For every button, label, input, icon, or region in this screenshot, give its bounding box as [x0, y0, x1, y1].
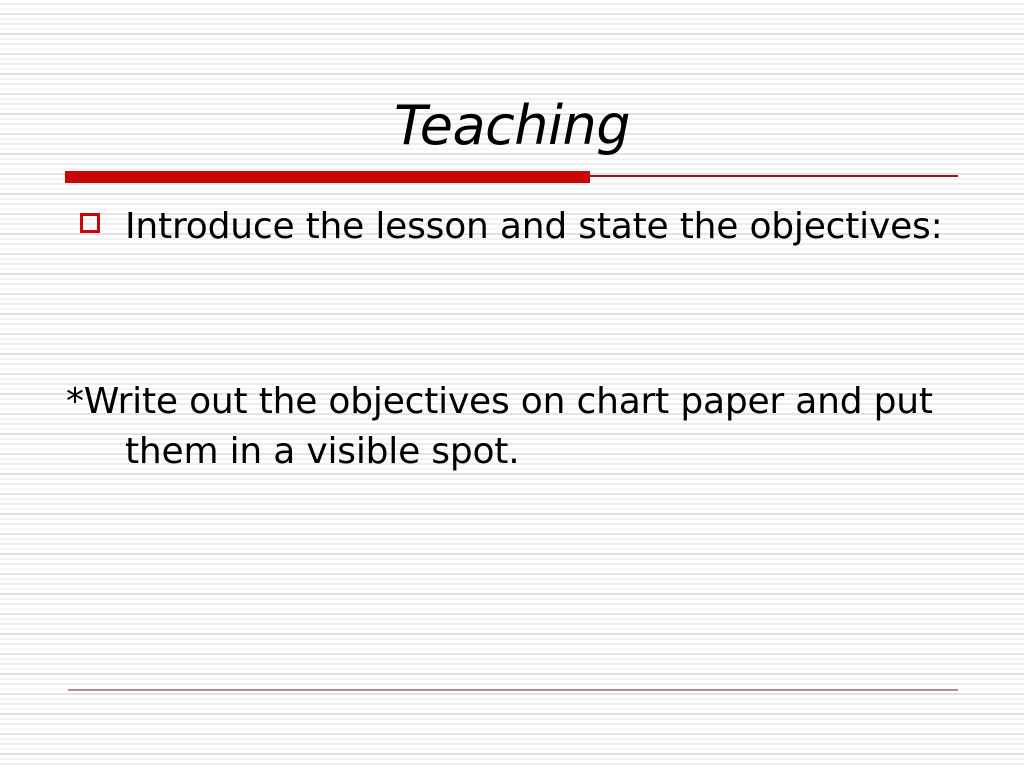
title-divider: [65, 171, 958, 183]
list-item: Introduce the lesson and state the objec…: [66, 202, 966, 252]
square-bullet-icon: [80, 213, 100, 233]
note-paragraph-text: *Write out the objectives on chart paper…: [66, 377, 966, 477]
note-paragraph: *Write out the objectives on chart paper…: [66, 377, 966, 477]
slide-body: Introduce the lesson and state the objec…: [66, 202, 966, 477]
title-divider-thick-bar: [65, 171, 590, 183]
list-item-label: Introduce the lesson and state the objec…: [125, 202, 966, 252]
page-title: Teaching: [394, 98, 630, 155]
footer-divider: [68, 689, 958, 691]
slide-canvas: Teaching Introduce the lesson and state …: [0, 0, 1024, 768]
title-block: Teaching: [0, 98, 1024, 155]
